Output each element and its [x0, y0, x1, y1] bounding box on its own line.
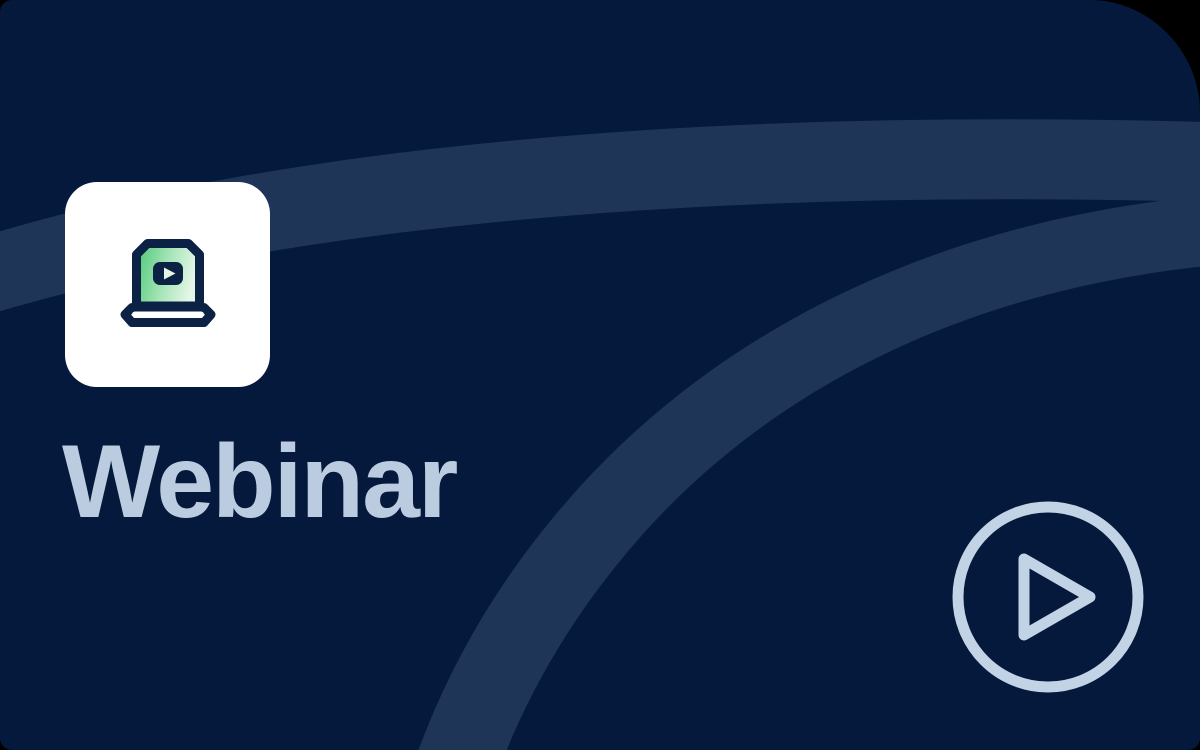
- play-circle-ring: [958, 507, 1138, 687]
- laptop-base-slot: [132, 311, 204, 317]
- play-circle-badge[interactable]: [948, 497, 1148, 697]
- play-triangle-outline: [1024, 559, 1090, 635]
- laptop-video-icon: [109, 229, 227, 341]
- play-circle-icon[interactable]: [948, 497, 1148, 697]
- webinar-icon-card: [65, 182, 270, 387]
- banner-content: Webinar: [0, 0, 1200, 750]
- page-title: Webinar: [62, 430, 456, 534]
- webinar-banner: Webinar: [0, 0, 1200, 750]
